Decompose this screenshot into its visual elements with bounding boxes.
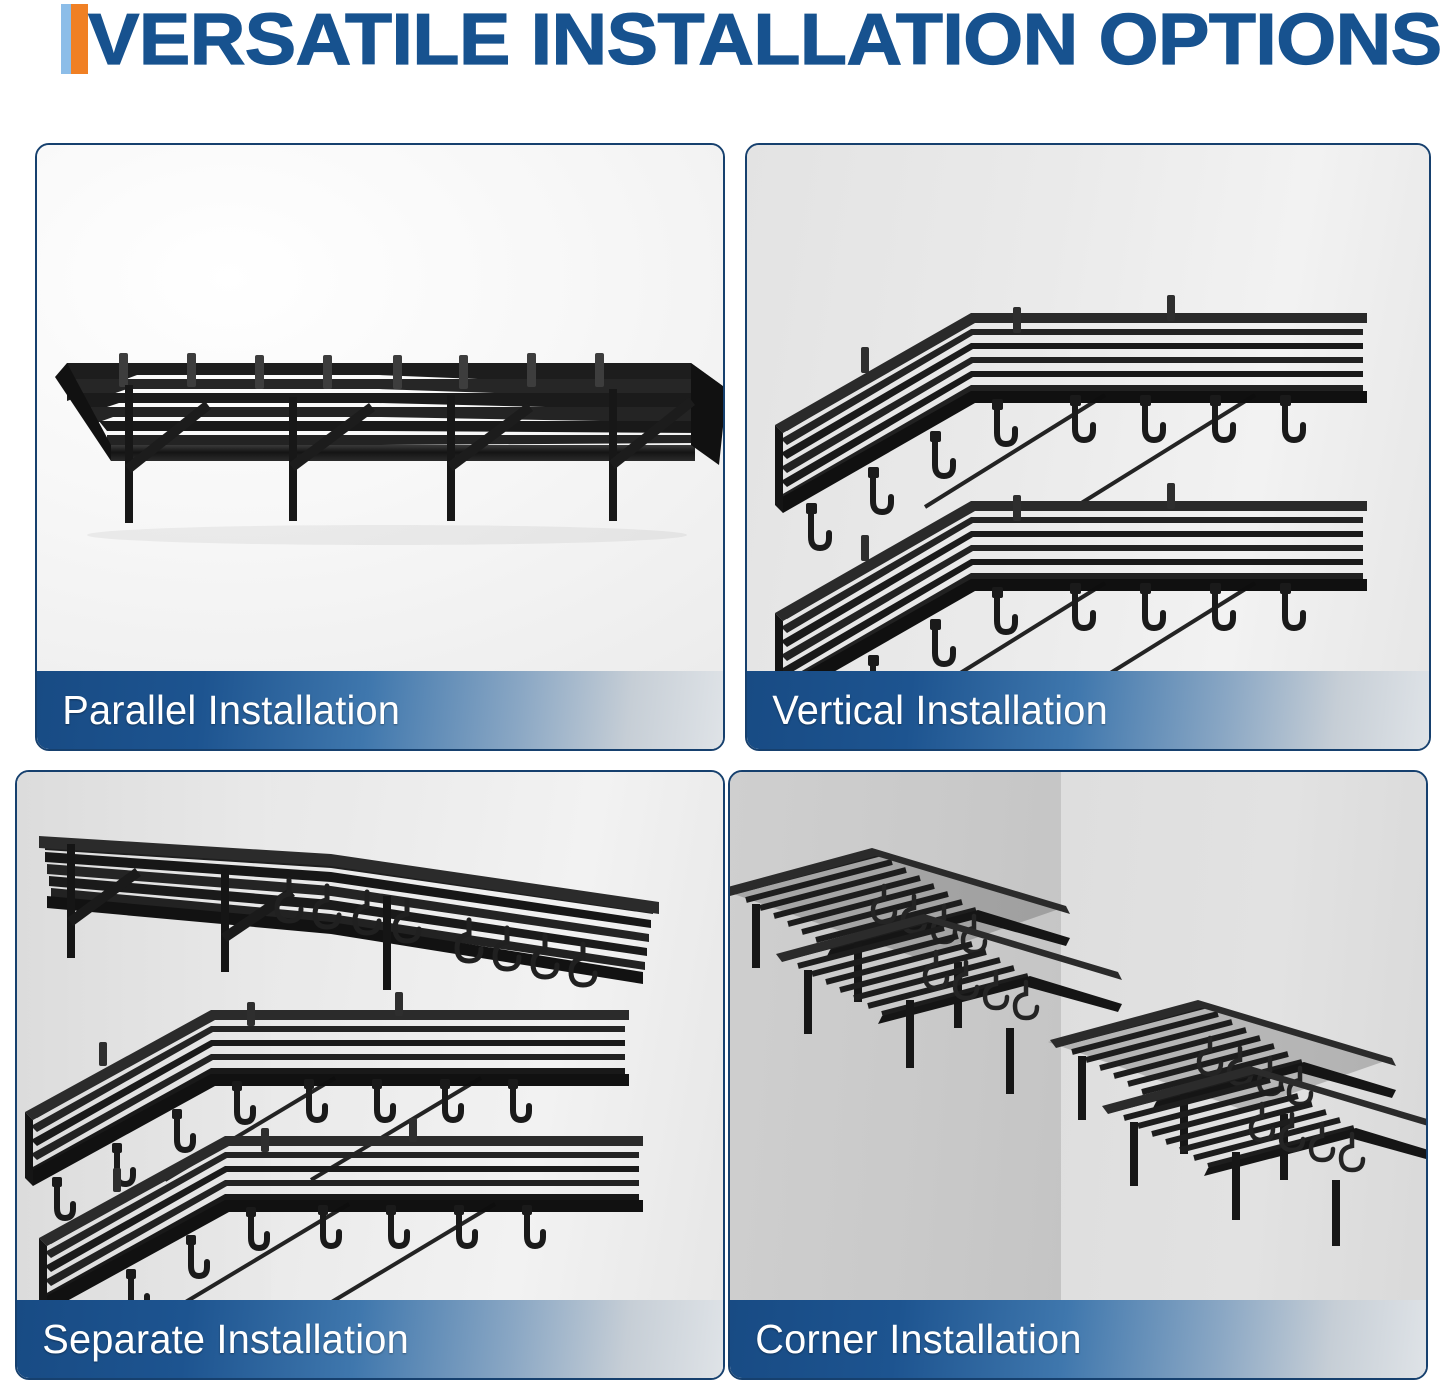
panel-parallel-image — [37, 145, 723, 749]
shelf-group-parallel — [37, 345, 723, 675]
accent-bar-blue-icon — [61, 4, 71, 74]
page-title: VERSATILE INSTALLATION OPTIONS — [88, 0, 1445, 86]
panel-vertical-image — [747, 145, 1429, 749]
panel-label-text: Corner Installation — [730, 1316, 1082, 1363]
shelf-group-corner — [730, 842, 1426, 1302]
panel-label-vertical: Vertical Installation — [747, 671, 1429, 749]
page-header: VERSATILE INSTALLATION OPTIONS — [0, 0, 1445, 96]
shelf-top-underside — [39, 836, 659, 990]
panel-corner: Corner Installation — [728, 770, 1428, 1380]
panel-separate: Separate Installation — [15, 770, 725, 1380]
shelf-unit-left — [55, 353, 379, 523]
panel-label-text: Parallel Installation — [37, 687, 400, 734]
panel-vertical: Vertical Installation — [745, 143, 1431, 751]
infographic-page: VERSATILE INSTALLATION OPTIONS — [0, 0, 1445, 1380]
panel-corner-image — [730, 772, 1426, 1378]
panel-label-separate: Separate Installation — [17, 1300, 723, 1378]
shelf-group-vertical — [757, 255, 1427, 715]
panel-separate-image — [17, 772, 723, 1378]
panel-parallel: Parallel Installation — [35, 143, 725, 751]
corner-shelf-pair-left — [730, 848, 1122, 1094]
corner-shelf-pair-right — [1048, 1000, 1426, 1246]
accent-bar-orange-icon — [71, 4, 88, 74]
panel-label-text: Separate Installation — [17, 1316, 409, 1363]
shelf-unit-right — [379, 353, 723, 521]
panel-label-corner: Corner Installation — [730, 1300, 1426, 1378]
panel-label-text: Vertical Installation — [747, 687, 1108, 734]
panel-label-parallel: Parallel Installation — [37, 671, 723, 749]
shelf-group-separate — [17, 822, 723, 1302]
